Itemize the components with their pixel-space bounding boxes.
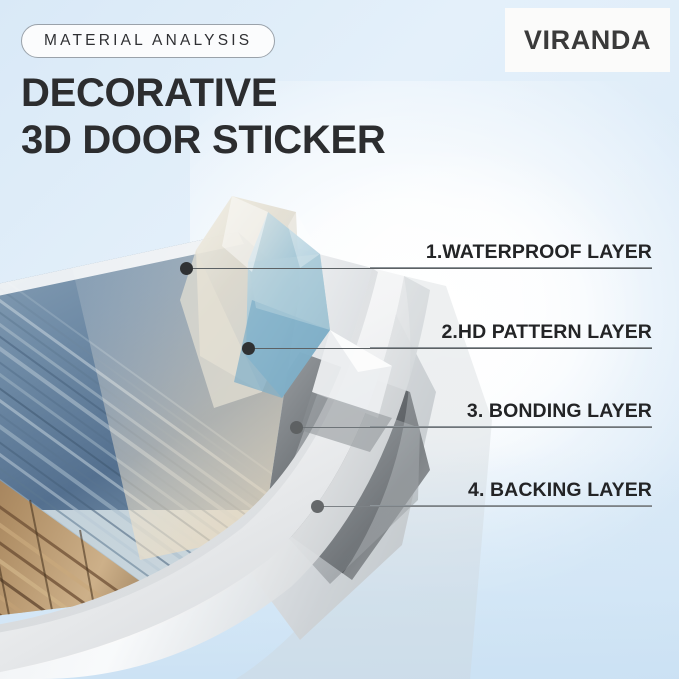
callout-dot-2	[242, 342, 255, 355]
page-title: DECORATIVE 3D DOOR STICKER	[21, 70, 385, 164]
poster-canvas: MATERIAL ANALYSIS DECORATIVE 3D DOOR STI…	[0, 0, 679, 679]
callout-label: 4. BACKING LAYER	[468, 479, 652, 501]
material-analysis-badge: MATERIAL ANALYSIS	[21, 24, 275, 58]
leader-line-3	[302, 427, 652, 428]
callout-dot-4	[311, 500, 324, 513]
callout-dot-3	[290, 421, 303, 434]
callout-waterproof-layer: 1.WATERPROOF LAYER	[370, 241, 652, 268]
title-line-1: DECORATIVE	[21, 71, 277, 115]
brand-name: VIRANDA	[524, 25, 651, 56]
callout-label: 3. BONDING LAYER	[467, 400, 652, 422]
leader-line-2	[254, 348, 652, 349]
leader-line-1	[192, 268, 652, 269]
callout-label: 2.HD PATTERN LAYER	[441, 321, 652, 343]
brand-logo: VIRANDA	[505, 8, 670, 72]
callout-hd-pattern-layer: 2.HD PATTERN LAYER	[370, 321, 652, 348]
callout-bonding-layer: 3. BONDING LAYER	[370, 400, 652, 427]
badge-label: MATERIAL ANALYSIS	[44, 32, 252, 50]
leader-line-4	[323, 506, 652, 507]
title-line-2: 3D DOOR STICKER	[21, 117, 385, 164]
callout-backing-layer: 4. BACKING LAYER	[370, 479, 652, 506]
callout-label: 1.WATERPROOF LAYER	[426, 241, 652, 263]
callout-dot-1	[180, 262, 193, 275]
